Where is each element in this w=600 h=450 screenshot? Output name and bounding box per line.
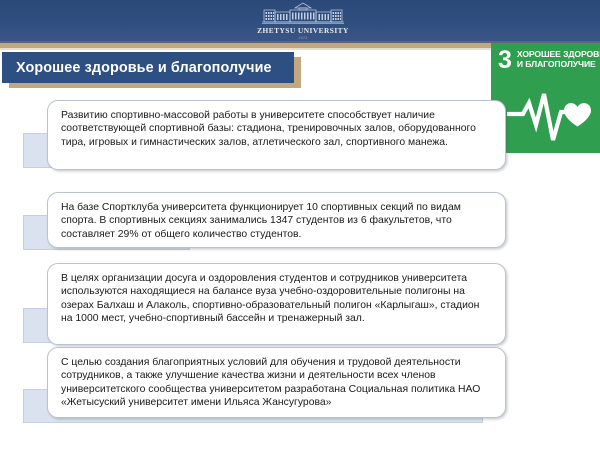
university-logo: ZHETYSU UNIVERSITY 1972 [253,2,353,42]
sdg-badge-header: 3 ХОРОШЕЕ ЗДОРОВЬЕ И БЛАГОПОЛУЧИЕ [491,43,600,71]
header-accent-stripe-soft [0,48,491,50]
content-box-text: В целях организации досуга и оздоровлени… [48,264,505,331]
content-box[interactable]: С целью создания благоприятных условий д… [47,347,506,418]
content-box[interactable]: Развитию спортивно-массовой работы в уни… [47,100,506,170]
page-title-text: Хорошее здоровье и благополучие [2,60,272,76]
content-box-group-2: На базе Спортклуба университета функцион… [23,192,483,258]
content-box-group-1: Развитию спортивно-массовой работы в уни… [23,100,483,178]
heartbeat-heart-icon [505,90,593,146]
content-box[interactable]: На базе Спортклуба университета функцион… [47,192,506,248]
content-box-text: С целью создания благоприятных условий д… [48,348,505,415]
content-box-text: На базе Спортклуба университета функцион… [48,193,505,247]
content-box-group-4: С целью создания благоприятных условий д… [23,347,483,425]
logo-wordmark: ZHETYSU UNIVERSITY [257,26,349,35]
sdg-goal-3-badge: 3 ХОРОШЕЕ ЗДОРОВЬЕ И БЛАГОПОЛУЧИЕ [491,43,600,153]
university-building-icon [260,2,346,25]
page-title: Хорошее здоровье и благополучие [2,52,294,83]
sdg-goal-label: ХОРОШЕЕ ЗДОРОВЬЕ И БЛАГОПОЛУЧИЕ [517,50,600,70]
content-box-group-3: В целях организации досуга и оздоровлени… [23,263,483,353]
logo-year: 1972 [298,36,308,40]
content-box[interactable]: В целях организации досуга и оздоровлени… [47,263,506,345]
sdg-goal-label-line2: И БЛАГОПОЛУЧИЕ [517,60,600,70]
sdg-goal-number: 3 [498,50,512,71]
content-box-text: Развитию спортивно-массовой работы в уни… [48,101,505,155]
